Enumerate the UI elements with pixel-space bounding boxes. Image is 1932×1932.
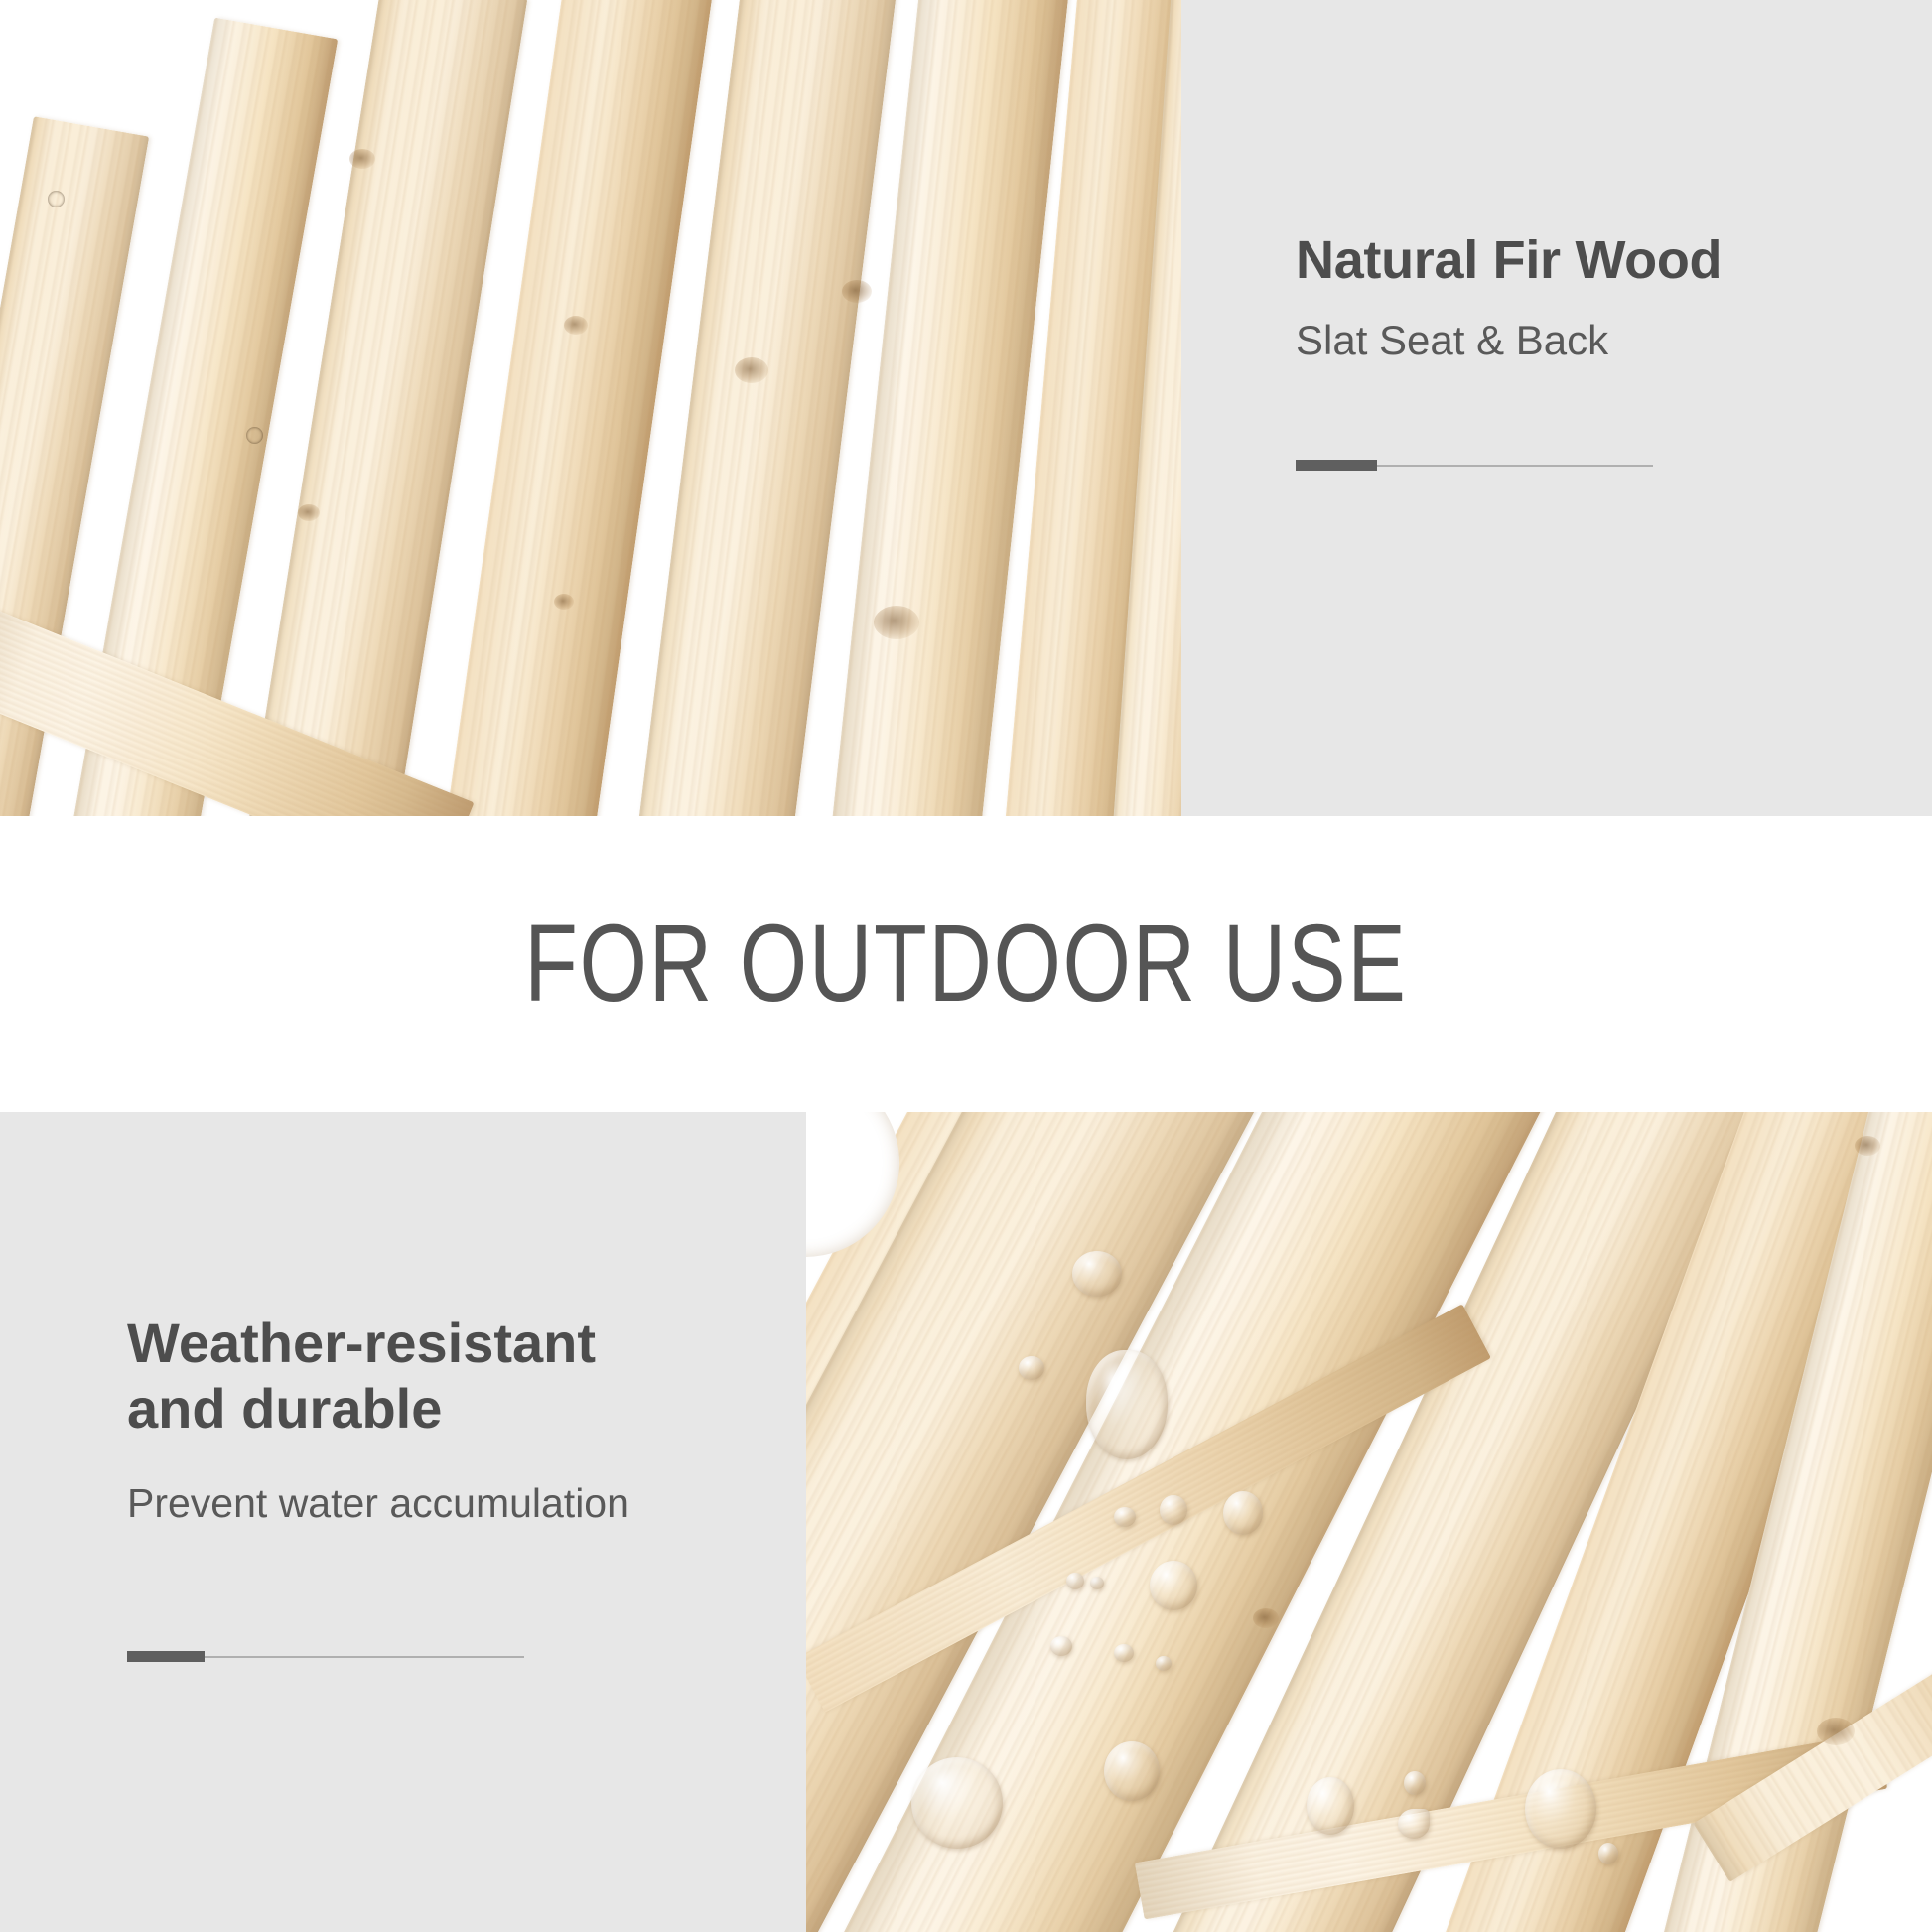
water-droplet <box>1114 1644 1134 1662</box>
water-droplet <box>1307 1777 1354 1835</box>
top-panel-title: Natural Fir Wood <box>1296 230 1891 290</box>
water-droplet <box>1223 1491 1263 1535</box>
water-droplet <box>1050 1636 1072 1656</box>
water-droplet <box>1150 1561 1197 1610</box>
water-droplet <box>1525 1769 1596 1849</box>
wood-knot <box>1855 1136 1880 1156</box>
water-droplets-on-wood-slats-photo <box>806 1112 1932 1932</box>
divider-thick-rule <box>127 1651 205 1662</box>
wood-knot <box>735 357 768 383</box>
water-droplet <box>1404 1771 1426 1795</box>
water-droplet <box>911 1757 1003 1849</box>
water-droplet <box>1072 1251 1122 1297</box>
water-droplet <box>1086 1350 1168 1459</box>
water-droplet <box>1156 1656 1172 1671</box>
water-droplet <box>1104 1741 1160 1801</box>
wood-knot <box>874 606 919 639</box>
bottom-panel-title: Weather-resistant and durable <box>127 1311 762 1442</box>
top-info-text-group: Natural Fir Wood Slat Seat & Back <box>1296 230 1891 468</box>
top-info-panel: Natural Fir Wood Slat Seat & Back <box>1181 0 1932 816</box>
wood-knot <box>1253 1608 1279 1628</box>
water-droplet <box>1398 1809 1430 1839</box>
top-panel-divider <box>1296 464 1653 468</box>
wood-slat-chair-back-photo <box>0 0 1181 816</box>
water-droplet <box>1160 1495 1187 1525</box>
bottom-panel-title-line1: Weather-resistant <box>127 1311 596 1374</box>
wood-knot <box>1817 1718 1855 1745</box>
banner-headline: FOR OUTDOOR USE <box>524 909 1407 1019</box>
banner-strip: FOR OUTDOOR USE <box>0 816 1932 1112</box>
wood-knot <box>842 280 872 303</box>
water-droplet <box>1114 1507 1136 1527</box>
bottom-panel-subtitle: Prevent water accumulation <box>127 1479 762 1528</box>
bottom-panel-title-line2: and durable <box>127 1377 442 1440</box>
wood-knot <box>554 594 574 610</box>
wood-knot <box>564 316 588 335</box>
top-feature-section: Natural Fir Wood Slat Seat & Back <box>0 0 1932 816</box>
screw-head <box>246 427 263 444</box>
top-panel-subtitle: Slat Seat & Back <box>1296 316 1891 365</box>
water-droplet <box>1090 1577 1104 1589</box>
water-droplet <box>1598 1843 1618 1864</box>
water-droplet <box>1019 1356 1044 1380</box>
bottom-feature-section: Weather-resistant and durable Prevent wa… <box>0 1112 1932 1932</box>
bottom-info-text-group: Weather-resistant and durable Prevent wa… <box>127 1311 762 1659</box>
wood-knot <box>349 149 375 169</box>
product-feature-infographic: Natural Fir Wood Slat Seat & Back FOR OU… <box>0 0 1932 1932</box>
bottom-info-panel: Weather-resistant and durable Prevent wa… <box>0 1112 806 1932</box>
wood-knot <box>298 504 320 521</box>
bottom-panel-divider <box>127 1655 524 1659</box>
screw-head <box>48 191 65 207</box>
water-droplet <box>1066 1573 1084 1589</box>
divider-thick-rule <box>1296 460 1377 471</box>
